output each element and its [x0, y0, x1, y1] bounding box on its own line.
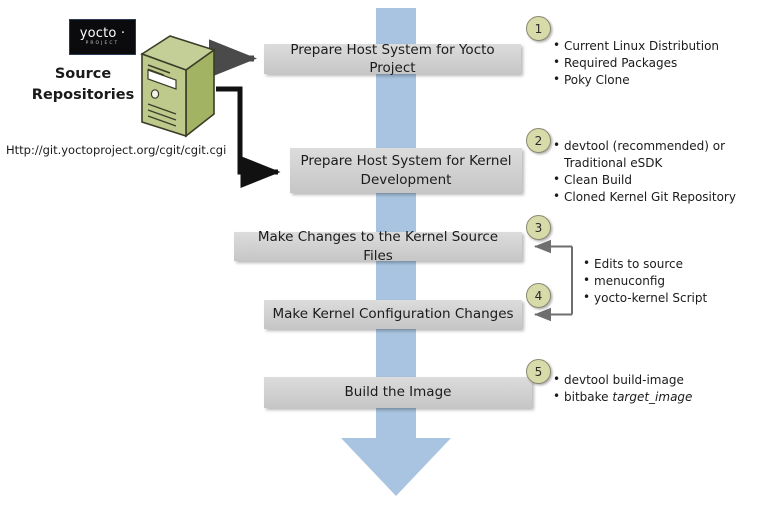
step-5-bullet-list: devtool build-image bitbake target_image [553, 372, 763, 406]
process-box-prepare-host-kernel[interactable]: Prepare Host System for Kernel Developme… [290, 148, 522, 193]
command-text: devtool build-image [564, 373, 684, 387]
workflow-diagram: yocto · PROJECT Source Repositories Http… [0, 0, 769, 517]
process-box-prepare-host-yocto[interactable]: Prepare Host System for Yocto Project [264, 44, 521, 74]
server-tower-icon [136, 32, 218, 142]
list-item: menuconfig [583, 273, 763, 290]
list-item: devtool build-image [553, 372, 763, 389]
steps-3-4-bullet-list: Edits to source menuconfig yocto-kernel … [583, 256, 763, 307]
list-item: Cloned Kernel Git Repository [553, 189, 765, 206]
command-parameter: target_image [612, 390, 692, 404]
list-item: Poky Clone [553, 72, 763, 89]
list-item: Required Packages [553, 55, 763, 72]
list-item: Current Linux Distribution [553, 38, 763, 55]
step-number-5: 5 [526, 359, 551, 384]
list-item: Clean Build [553, 172, 765, 189]
list-item: yocto-kernel Script [583, 290, 763, 307]
command-text: bitbake [564, 390, 612, 404]
yocto-project-logo: yocto · PROJECT [69, 19, 136, 55]
step-2-bullet-list: devtool (recommended) or Traditional eSD… [553, 138, 765, 206]
list-item: Edits to source [583, 256, 763, 273]
process-box-make-config-changes[interactable]: Make Kernel Configuration Changes [264, 300, 522, 329]
source-repositories-url: Http://git.yoctoproject.org/cgit/cgit.cg… [6, 143, 236, 157]
workflow-spine-arrow-head [341, 438, 451, 496]
list-item: bitbake target_image [553, 389, 763, 406]
step-1-bullet-list: Current Linux Distribution Required Pack… [553, 38, 763, 89]
step-number-2: 2 [526, 128, 551, 153]
logo-subtitle: PROJECT [86, 42, 120, 46]
step-number-4: 4 [526, 283, 551, 308]
step-number-3: 3 [526, 215, 551, 240]
list-item: devtool (recommended) or Traditional eSD… [553, 138, 765, 172]
process-box-build-image[interactable]: Build the Image [264, 377, 532, 408]
logo-wordmark: yocto · [80, 27, 126, 40]
process-box-make-source-changes[interactable]: Make Changes to the Kernel Source Files [234, 232, 522, 261]
step-number-1: 1 [526, 16, 551, 41]
source-repositories-label: Source Repositories [20, 64, 146, 106]
